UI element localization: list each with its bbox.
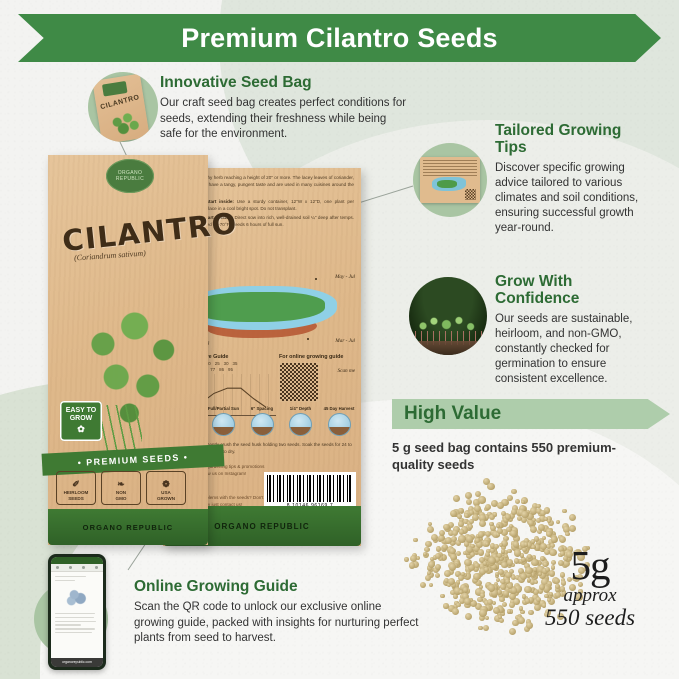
heirloom-icon: ✐ (72, 479, 80, 489)
growing-icon-item: 6" Spacing (246, 406, 278, 436)
non-gmo-icon: ❧ (117, 479, 125, 489)
callout-title-grow: Grow With Confidence (495, 273, 655, 308)
easy-badge-line2: GROW (70, 415, 93, 423)
mini-back-text-lines (423, 160, 477, 176)
mini-packet-leaves (106, 108, 144, 139)
seed (551, 536, 557, 542)
seed (451, 536, 457, 542)
seed (436, 546, 442, 552)
phone-status-bar (51, 557, 103, 564)
phone-plant-image (63, 585, 91, 609)
seed (459, 590, 463, 594)
seed-packet-front: ORGANO REPUBLIC CILANTRO (Coriandrum sat… (48, 155, 208, 545)
high-value-label: High Value (404, 403, 501, 425)
seed (509, 628, 516, 635)
seed (483, 625, 489, 631)
seed (453, 594, 458, 599)
seed (497, 502, 504, 509)
seed (499, 618, 504, 623)
seed (569, 514, 576, 521)
high-value-banner: High Value (392, 399, 670, 429)
seed (442, 544, 448, 550)
seed (464, 513, 469, 518)
badge-nongmo-line2: GMO (116, 496, 127, 501)
seed (498, 569, 504, 575)
callout-title-guide: Online Growing Guide (134, 578, 424, 595)
seed (497, 528, 503, 534)
phone-url-text: organorepublic.com (51, 658, 103, 667)
callout-body-guide: Scan the QR code to unlock our exclusive… (134, 600, 424, 646)
seed (562, 509, 566, 513)
seed (464, 598, 470, 604)
soil-f-4: 77 (210, 367, 215, 372)
seed (464, 559, 471, 566)
easy-badge-line1: EASY TO (66, 407, 96, 415)
depth-icon (289, 413, 312, 436)
seed (497, 553, 502, 558)
weight-amount: 5g (517, 546, 663, 585)
seed (556, 520, 561, 525)
seed (452, 608, 459, 615)
seed (559, 536, 566, 543)
seed (420, 582, 426, 588)
seed (435, 573, 440, 578)
harvest-icon (328, 413, 351, 436)
phone-mockup: organorepublic.com (48, 554, 106, 670)
seed (485, 531, 492, 538)
seed (493, 512, 497, 516)
seed (511, 489, 516, 494)
growing-icon-item: Full/Partial Sun (208, 406, 240, 436)
leaf-icon: ✿ (77, 425, 85, 435)
mini-packet-band (102, 81, 128, 97)
soil-c-5: 25 (215, 361, 220, 366)
seed (507, 549, 511, 553)
seed (487, 483, 494, 490)
seed (485, 504, 491, 510)
seed (489, 522, 494, 527)
seed (479, 520, 486, 527)
seed (456, 603, 461, 608)
thumbnail-seedlings-photo (409, 277, 487, 355)
seed (466, 535, 473, 542)
callout-grow-with-confidence: Grow With Confidence Our seeds are susta… (495, 273, 655, 388)
seed (474, 563, 480, 569)
online-guide-title: For online growing guide (279, 354, 355, 360)
seed (485, 616, 489, 620)
map-dot (307, 338, 309, 340)
phone-url-bar: organorepublic.com (51, 658, 103, 667)
online-guide-qr-block: For online growing guide Scan me (279, 354, 355, 402)
seed (474, 505, 481, 512)
weight-approx-label: approx (517, 586, 663, 606)
seed (452, 530, 458, 536)
callout-tailored-growing-tips: Tailored Growing Tips Discover specific … (495, 122, 655, 237)
growing-icon-item: 1/4" Depth (285, 406, 317, 436)
seed (458, 535, 465, 542)
seed (480, 593, 484, 597)
soil-f-6: 95 (228, 367, 233, 372)
callout-body-grow: Our seeds are sustainable, heirloom, and… (495, 312, 655, 388)
badge-heirloom-line2: SEEDS (68, 496, 84, 501)
brand-seal-logo: ORGANO REPUBLIC (106, 159, 154, 193)
map-label-1: May - Jul (335, 274, 355, 280)
seed (478, 549, 485, 556)
weight-seed-count: 550 seeds (517, 606, 663, 630)
seed (470, 552, 475, 557)
seed (530, 526, 537, 533)
seed (443, 603, 448, 608)
barcode-bars (267, 475, 353, 502)
callout-online-growing-guide: Online Growing Guide Scan the QR code to… (134, 578, 424, 646)
premium-ribbon-text: • PREMIUM SEEDS • (78, 452, 189, 468)
seed (478, 531, 485, 538)
seed (507, 609, 511, 613)
seed (459, 529, 464, 534)
callout-title-tips: Tailored Growing Tips (495, 122, 655, 157)
page-title: Premium Cilantro Seeds (181, 23, 498, 54)
easy-to-grow-badge: EASY TO GROW ✿ (60, 401, 102, 441)
seed (507, 495, 513, 501)
seed (444, 570, 451, 577)
high-value-subtitle: 5 g seed bag contains 550 premium-qualit… (392, 440, 642, 474)
seed (448, 578, 455, 585)
seed (536, 518, 541, 523)
map-label-3: Mar - Jul (335, 338, 355, 344)
seed (488, 557, 496, 565)
phone-nav-icon[interactable] (69, 566, 72, 569)
thumbnail-seed-bag: CILANTRO (88, 72, 158, 142)
seed (504, 554, 508, 558)
icon-label-sun: Full/Partial Sun (208, 406, 240, 411)
seed (538, 524, 545, 531)
seed (440, 594, 445, 599)
seed (429, 583, 433, 587)
seed (457, 514, 462, 519)
seed (449, 563, 456, 570)
seed (465, 492, 472, 499)
badge-heirloom-seeds: ✐ HEIRLOOM SEEDS (56, 471, 96, 505)
seed (424, 547, 429, 552)
soil-c-6: 30 (224, 361, 229, 366)
seed (487, 599, 493, 605)
mini-packet-image: CILANTRO (92, 74, 149, 142)
icon-label-spacing: 6" Spacing (246, 406, 278, 411)
badge-usa-line2: GROWN (157, 496, 175, 501)
seed (498, 615, 502, 619)
seed (494, 544, 499, 549)
seed (509, 602, 515, 608)
packet-back-brand: ORGANO REPUBLIC (214, 522, 310, 531)
qr-code-online-guide[interactable] (279, 362, 319, 402)
spacing-icon (251, 413, 274, 436)
phone-nav-bar (51, 564, 103, 572)
seed (404, 557, 409, 562)
soil-f-5: 86 (219, 367, 224, 372)
soil-c-7: 35 (233, 361, 238, 366)
packet-front-brand: ORGANO REPUBLIC (83, 523, 174, 532)
seed (427, 526, 434, 533)
scan-me-label: Scan me (338, 368, 355, 374)
seed (458, 508, 464, 514)
phone-content-lines (51, 572, 103, 633)
seed (472, 514, 479, 521)
seed (544, 517, 548, 521)
seed (456, 551, 461, 556)
seed (466, 546, 473, 553)
seed (425, 575, 431, 581)
seed (501, 511, 506, 516)
soil-graphic (409, 341, 487, 355)
icon-label-depth: 1/4" Depth (285, 406, 317, 411)
badge-usa-grown: ❁ USA GROWN (146, 471, 186, 505)
seed (521, 511, 529, 519)
seed (439, 530, 445, 536)
thumbnail-growing-tips (413, 143, 487, 217)
callout-body-tips: Discover specific growing advice tailore… (495, 161, 655, 237)
icon-label-harvest: 45 Day Harvest (323, 406, 355, 411)
phone-nav-icon[interactable] (95, 566, 98, 569)
seed (466, 499, 472, 505)
map-dot (315, 278, 317, 280)
seed (507, 559, 513, 565)
sun-icon (212, 413, 235, 436)
seed (479, 609, 487, 617)
mini-packet-back-image (420, 157, 480, 203)
seed (413, 538, 417, 542)
seed (488, 584, 495, 591)
page-title-banner: Premium Cilantro Seeds (18, 14, 661, 62)
mini-back-map (432, 177, 466, 191)
phone-nav-icon[interactable] (82, 566, 85, 569)
seed (443, 524, 449, 530)
seed (435, 564, 441, 570)
usa-grown-icon: ❁ (162, 479, 170, 489)
seed (492, 601, 496, 605)
seed (463, 587, 469, 593)
trust-badges: ✐ HEIRLOOM SEEDS ❧ NON GMO ❁ USA GROWN (56, 471, 202, 505)
seed (449, 548, 455, 554)
weight-callout: 5g approx 550 seeds (517, 546, 663, 630)
brand-seal-text: ORGANO REPUBLIC (106, 170, 154, 182)
seed (565, 532, 570, 537)
seed (515, 499, 520, 504)
seed (544, 507, 551, 514)
phone-screen: organorepublic.com (51, 557, 103, 667)
seed (478, 496, 485, 503)
mini-back-qr-icon (465, 189, 476, 200)
badge-non-gmo: ❧ NON GMO (101, 471, 141, 505)
phone-nav-icon[interactable] (56, 566, 59, 569)
seed (496, 524, 500, 528)
growing-icon-item: 45 Day Harvest (323, 406, 355, 436)
seed (569, 525, 576, 532)
seed (465, 613, 472, 620)
seed (483, 561, 488, 566)
seed (468, 524, 473, 529)
callout-innovative-seed-bag: Innovative Seed Bag Our craft seed bag c… (160, 74, 410, 142)
callout-title-seed-bag: Innovative Seed Bag (160, 74, 410, 91)
packet-front-footer: ORGANO REPUBLIC (48, 509, 208, 545)
seed (453, 495, 460, 502)
callout-body-seed-bag: Our craft seed bag creates perfect condi… (160, 96, 410, 142)
